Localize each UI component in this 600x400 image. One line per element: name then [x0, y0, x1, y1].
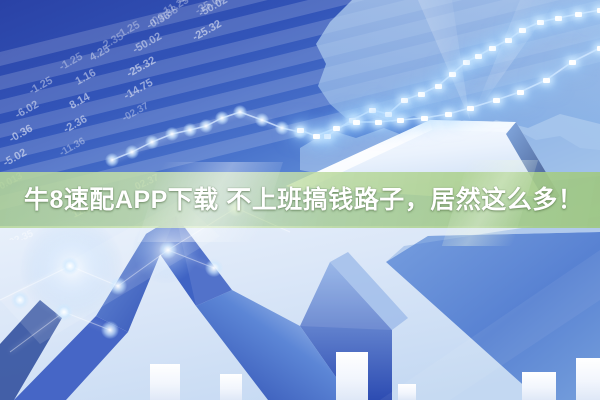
chart-glow-dot: [145, 135, 159, 149]
chart-node: [297, 128, 304, 133]
chart-node: [397, 118, 404, 123]
chart-node: [489, 46, 496, 51]
chart-glow-dot: [101, 321, 119, 339]
chart-node: [517, 90, 524, 95]
chart-glow-dot: [165, 127, 179, 141]
chart-node: [385, 112, 392, 117]
chart-node: [313, 134, 320, 139]
chart-node: [333, 126, 340, 131]
chart-glow-dot: [255, 113, 269, 127]
chart-node: [463, 60, 470, 65]
chart-node: [505, 38, 512, 43]
chart-node: [324, 134, 331, 139]
chart-glow-dot: [205, 259, 223, 277]
chart-node: [421, 116, 428, 121]
headline-text: 牛8速配APP下载 不上班搞钱路子，居然这么多！: [24, 188, 583, 213]
chart-bar: [150, 364, 180, 400]
chart-glow-dot: [159, 241, 177, 259]
chart-node: [401, 98, 408, 103]
chart-node: [435, 84, 442, 89]
chart-node: [375, 120, 382, 125]
headline-band: 牛8速配APP下载 不上班搞钱路子，居然这么多！: [0, 172, 600, 228]
chart-glow-dot: [109, 277, 127, 295]
chart-glow-dot: [183, 123, 197, 137]
chart-glow-dot: [61, 257, 79, 275]
chart-node: [475, 54, 482, 59]
chart-bar: [336, 352, 368, 400]
chart-node: [569, 60, 576, 65]
chart-node: [575, 12, 582, 17]
chart-node: [418, 92, 425, 97]
chart-node: [537, 20, 544, 25]
chart-node: [543, 78, 550, 83]
chart-node: [493, 98, 500, 103]
chart-glow-dot: [11, 291, 29, 309]
chart-glow-dot: [199, 119, 213, 133]
chart-glow-dot: [215, 111, 229, 125]
chart-bar: [220, 374, 242, 400]
chart-node: [519, 28, 526, 33]
chart-bar: [576, 358, 600, 400]
chart-node: [555, 16, 562, 21]
chart-node: [353, 120, 360, 125]
chart-glow-dot: [125, 145, 139, 159]
chart-node: [597, 8, 600, 13]
chart-glow-dot: [275, 121, 289, 135]
chart-glow-dot: [55, 303, 73, 321]
chart-node: [369, 108, 376, 113]
chart-glow-dot: [105, 153, 119, 167]
chart-node: [467, 106, 474, 111]
chart-node: [445, 112, 452, 117]
promo-banner: -35.02-06.3521.35-06.38-11.2545.022.35-1…: [0, 0, 600, 400]
chart-node: [449, 72, 456, 77]
chart-node: [597, 46, 600, 51]
chart-bar: [522, 372, 556, 400]
chart-bar: [398, 384, 416, 400]
chart-glow-dot: [233, 105, 247, 119]
